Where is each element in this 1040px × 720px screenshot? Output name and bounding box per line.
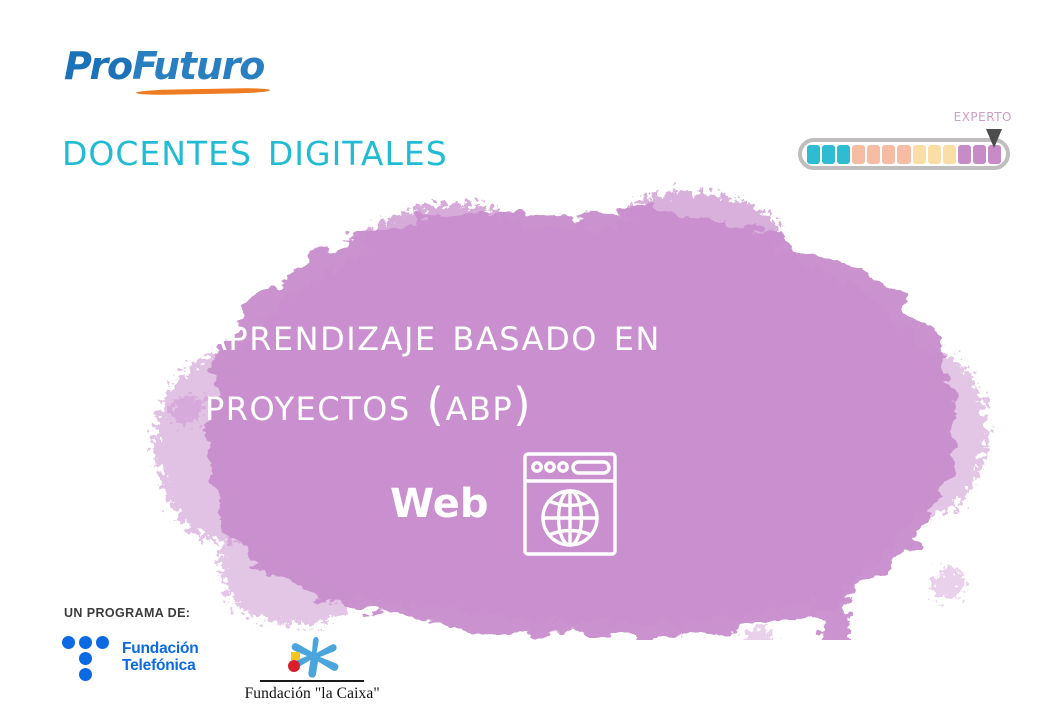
course-title-line-2: Proyectos (ABP) — [205, 370, 905, 440]
course-title-line-1: Aprendizaje basado en — [205, 300, 905, 370]
sponsor-fundacion-telefonica[interactable]: Fundación Telefónica — [62, 634, 199, 680]
level-meter-segment — [852, 145, 865, 164]
profuturo-logo-pro: Pro — [64, 44, 132, 88]
level-badge-label: Experto — [954, 106, 1012, 126]
sponsor-logos: Fundación Telefónica Fundación "la Caixa… — [62, 634, 380, 703]
profuturo-logo-underline — [136, 88, 270, 96]
level-pointer-icon — [986, 129, 1002, 148]
slide-canvas: ProFuturo Docentes Digitales Experto — [0, 0, 1040, 720]
course-modality: Web — [390, 448, 624, 560]
la-caixa-star-icon — [269, 636, 355, 678]
level-meter-segment — [867, 145, 880, 164]
level-meter-segment — [807, 145, 820, 164]
level-meter-segment — [897, 145, 910, 164]
profuturo-logo-futuro: Futuro — [132, 44, 264, 88]
course-title: Aprendizaje basado en Proyectos (ABP) — [205, 300, 905, 440]
level-meter-track — [798, 138, 1010, 170]
level-meter-segment — [973, 145, 986, 164]
telefonica-dots-icon — [62, 634, 112, 680]
telefonica-wordmark-line-1: Fundación — [122, 640, 199, 658]
profuturo-logo: ProFuturo — [64, 44, 294, 106]
level-meter-segment — [837, 145, 850, 164]
browser-globe-icon — [516, 448, 624, 560]
page-title: Docentes Digitales — [62, 122, 448, 178]
modality-label: Web — [390, 481, 488, 527]
level-meter-segment — [928, 145, 941, 164]
level-meter-segment — [882, 145, 895, 164]
level-meter-segment — [822, 145, 835, 164]
footer-programme-note: UN PROGRAMA DE: — [64, 606, 190, 620]
la-caixa-rule — [260, 680, 364, 682]
level-progress-meter[interactable]: Experto — [798, 106, 1014, 176]
level-meter-segment — [958, 145, 971, 164]
sponsor-fundacion-la-caixa[interactable]: Fundación "la Caixa" — [245, 634, 380, 703]
la-caixa-wordmark: Fundación "la Caixa" — [245, 684, 380, 703]
telefonica-wordmark-line-2: Telefónica — [122, 657, 199, 675]
telefonica-wordmark: Fundación Telefónica — [122, 640, 199, 675]
level-meter-segment — [913, 145, 926, 164]
profuturo-logo-text: ProFuturo — [64, 44, 294, 88]
level-meter-segment — [943, 145, 956, 164]
